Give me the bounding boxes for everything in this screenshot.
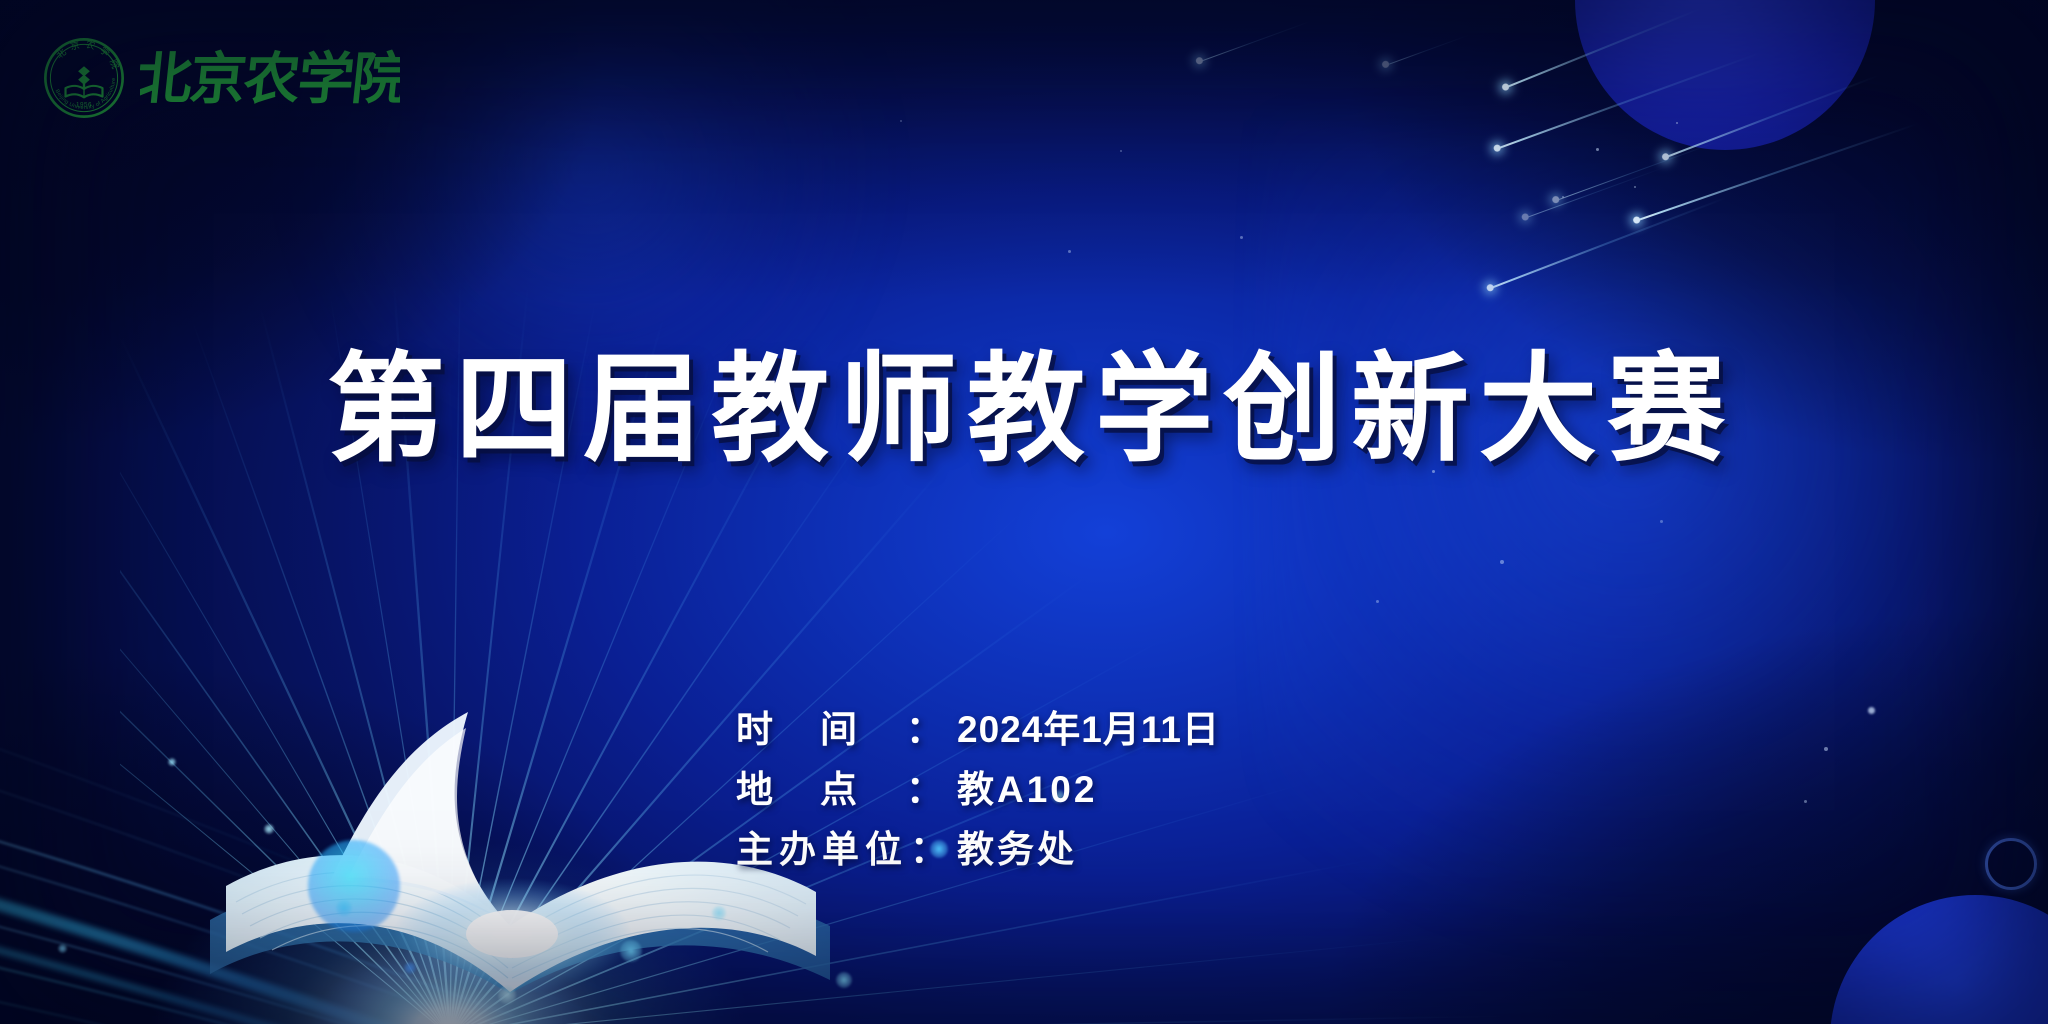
detail-value-location: 教A102 — [943, 760, 1097, 820]
star-dot — [1634, 186, 1636, 188]
event-details: 时 间 ： 2024年1月11日 地 点 ： 教A102 主办单位 ： 教务处 — [736, 700, 1220, 880]
star-dot — [1240, 236, 1243, 239]
bokeh-particle — [836, 972, 852, 988]
svg-text:1956: 1956 — [76, 102, 92, 109]
bokeh-particle — [168, 758, 176, 766]
decor-ring-circle-right — [1985, 838, 2037, 890]
star-dot — [1562, 196, 1564, 198]
bokeh-particle — [620, 940, 642, 962]
bokeh-particle — [264, 824, 274, 834]
detail-row-date: 时 间 ： 2024年1月11日 — [736, 700, 1220, 760]
page-title: 第四届教师教学创新大赛 — [0, 341, 2048, 480]
star-dot — [1120, 150, 1122, 152]
star-dot — [1824, 747, 1828, 751]
decor-circle-cyan-book — [308, 840, 400, 932]
star-dot — [1804, 800, 1807, 803]
detail-label-location: 地 点 ： — [736, 760, 943, 820]
star-dot — [1596, 148, 1599, 151]
detail-label-date: 时 间 ： — [736, 700, 943, 760]
detail-row-organizer: 主办单位 ： 教务处 — [736, 820, 1220, 880]
svg-text:北京农学院: 北京农学院 — [140, 47, 400, 112]
detail-row-location: 地 点 ： 教A102 — [736, 760, 1220, 820]
bokeh-particle — [498, 986, 516, 1004]
bokeh-particle — [712, 906, 726, 920]
university-seal-icon: 北京农学院 Beijing University of Agriculture … — [42, 36, 126, 120]
bokeh-particle — [404, 962, 416, 974]
university-wordmark-icon: 北京农学院 — [140, 42, 400, 114]
poster-canvas: 北京农学院 Beijing University of Agriculture … — [0, 0, 2048, 1024]
star-dot — [1676, 122, 1678, 124]
star-dot — [1660, 520, 1663, 523]
detail-value-organizer: 教务处 — [943, 820, 1077, 880]
detail-value-date: 2024年1月11日 — [943, 700, 1220, 760]
star-dot — [1868, 707, 1875, 714]
university-logo: 北京农学院 Beijing University of Agriculture … — [42, 36, 400, 120]
star-dot — [900, 120, 902, 122]
bokeh-particle — [58, 944, 67, 953]
detail-label-organizer: 主办单位 ： — [736, 820, 943, 880]
